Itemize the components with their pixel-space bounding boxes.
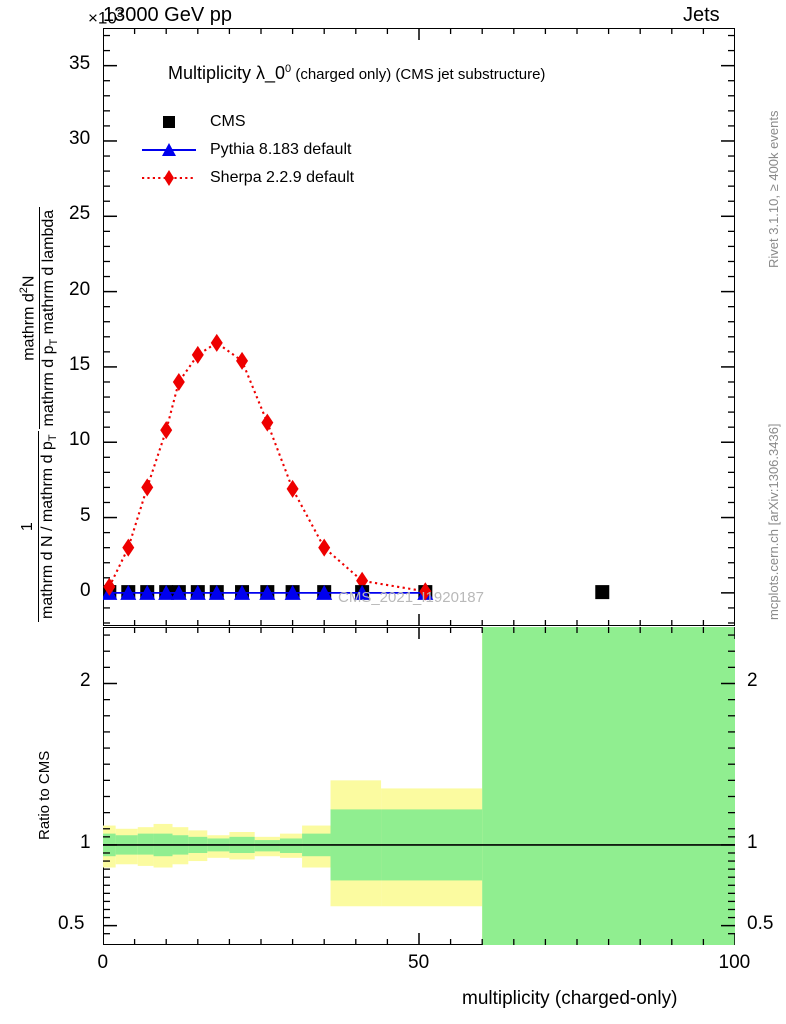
ratio-band-inner <box>255 840 280 851</box>
series-sherpa <box>103 334 431 601</box>
diamond-marker <box>140 167 198 189</box>
header-right-label: Jets <box>683 4 720 27</box>
y-tick-label: 0 <box>80 580 91 602</box>
y-tick-label: 10 <box>69 429 90 451</box>
y-tick-label: 25 <box>69 203 90 225</box>
y-axis-label-numerator-right: mathrm d2N <box>18 207 39 430</box>
ratio-y-tick-label-right: 0.5 <box>747 913 773 935</box>
y-axis-label-denominator-left: mathrm d N / mathrm d pT <box>38 431 60 622</box>
ratio-band-inner <box>138 834 154 855</box>
y-tick-label: 35 <box>69 53 90 75</box>
ratio-y-tick-label-right: 1 <box>747 832 758 854</box>
y-axis-label-denominator-right: mathrm d pT mathrm d lambda <box>39 207 61 430</box>
ratio-y-tick-label: 2 <box>80 670 91 692</box>
legend-item-pythia: Pythia 8.183 default <box>140 136 354 164</box>
ratio-band-inner <box>280 838 302 853</box>
x-tick-label: 50 <box>408 952 429 974</box>
ratio-plot-canvas <box>103 627 735 945</box>
triangle-marker <box>140 139 198 161</box>
sidenote-mcplots: mcplots.cern.ch [arXiv:1306.3436] <box>766 423 781 620</box>
legend-item-label: Pythia 8.183 default <box>210 141 351 159</box>
square-marker <box>140 111 198 133</box>
x-tick-label: 100 <box>719 952 751 974</box>
ratio-band-inner <box>482 627 735 945</box>
watermark: CMS_2021_I1920187 <box>338 589 484 606</box>
legend-item-label: CMS <box>210 113 246 131</box>
plot-root: 13000 GeV pp Jets ×103 05101520253035 Mu… <box>0 0 786 1024</box>
plot-title: Multiplicity λ_00 (charged only) (CMS je… <box>168 63 545 84</box>
y-axis-label-numerator-left: 1 <box>19 431 37 622</box>
x-axis-label: multiplicity (charged-only) <box>462 988 677 1010</box>
ratio-y-axis-label: Ratio to CMS <box>36 751 53 840</box>
ratio-y-tick-label: 0.5 <box>58 913 84 935</box>
ratio-y-tick-label-right: 2 <box>747 670 758 692</box>
y-tick-label: 15 <box>69 354 90 376</box>
ratio-y-tick-label: 1 <box>80 832 91 854</box>
legend: CMSPythia 8.183 defaultSherpa 2.2.9 defa… <box>140 108 354 192</box>
y-axis-label: 1 mathrm d N / mathrm d pT mathrm d2N ma… <box>18 207 61 622</box>
sidenote-rivet: Rivet 3.1.10, ≥ 400k events <box>766 111 781 268</box>
legend-item-label: Sherpa 2.2.9 default <box>210 169 354 187</box>
y-tick-label: 30 <box>69 128 90 150</box>
legend-item-sherpa: Sherpa 2.2.9 default <box>140 164 354 192</box>
y-tick-label: 5 <box>80 505 91 527</box>
y-tick-label: 20 <box>69 279 90 301</box>
legend-item-cms: CMS <box>140 108 354 136</box>
y-multiplier-label: ×103 <box>88 8 123 29</box>
x-tick-label: 0 <box>98 952 109 974</box>
